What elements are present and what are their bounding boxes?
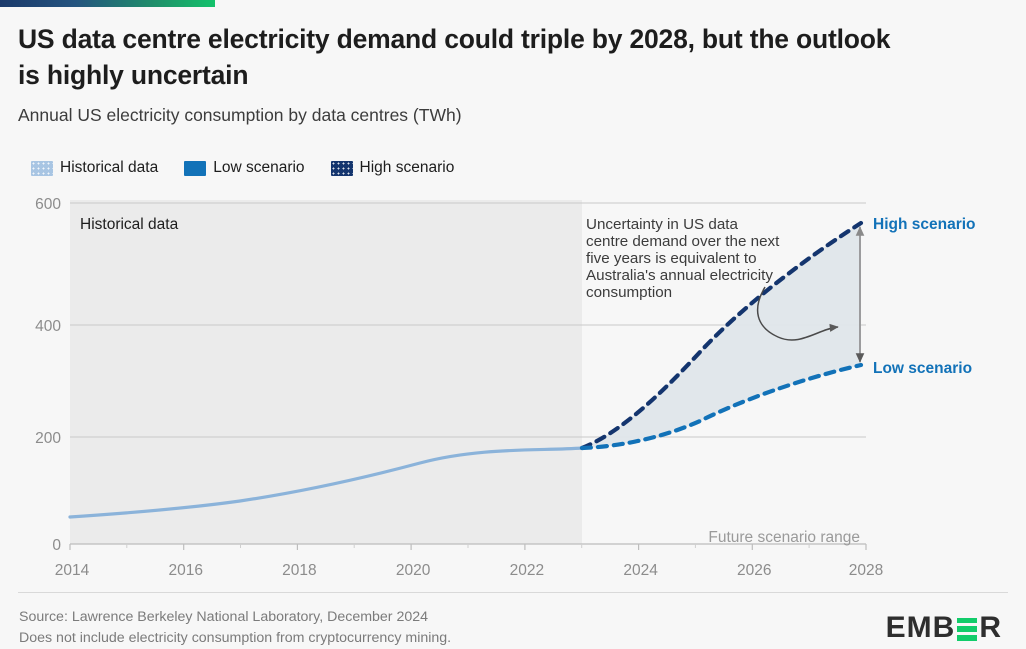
brand-accent-bar [0,0,215,7]
uncertainty-annotation: Uncertainty in US data centre demand ove… [586,216,780,301]
low-scenario-endpoint-label: Low scenario [873,360,972,377]
y-tick-600: 600 [35,196,61,213]
ember-logo: EMB R [886,611,1002,645]
x-tick-2018: 2018 [282,562,316,579]
svg-text:consumption: consumption [586,284,672,301]
historical-region-label: Historical data [80,216,179,233]
y-axis-tick-labels: 600 400 200 0 [35,196,61,554]
x-tick-2028: 2028 [849,562,883,579]
source-note: Source: Lawrence Berkeley National Labor… [19,607,451,648]
svg-text:Uncertainty in US data: Uncertainty in US data [586,216,739,233]
x-tick-2022: 2022 [510,562,544,579]
x-tick-2026: 2026 [737,562,771,579]
x-axis-tick-labels: 2014 2016 2018 2020 2022 2024 2026 2028 [55,562,883,579]
ember-logo-text-left: EMB [886,611,956,645]
ember-logo-text-right: R [979,611,1002,645]
source-line-1: Source: Lawrence Berkeley National Labor… [19,607,451,628]
y-tick-0: 0 [52,537,61,554]
chart-plot-area: 600 400 200 0 2014 2016 2018 2020 2022 2… [0,7,1026,649]
svg-text:centre demand over the next: centre demand over the next [586,233,780,250]
chart-card: US data centre electricity demand could … [0,7,1026,649]
historical-region-shading [70,200,582,544]
ember-logo-e-icon [957,618,977,641]
source-line-2: Does not include electricity consumption… [19,628,451,649]
svg-text:Australia's annual electricity: Australia's annual electricity [586,267,773,284]
y-tick-400: 400 [35,318,61,335]
x-tick-2014: 2014 [55,562,90,579]
footer-divider [18,592,1008,593]
y-tick-200: 200 [35,430,61,447]
x-tick-2024: 2024 [623,562,658,579]
x-tick-2020: 2020 [396,562,431,579]
svg-text:five years is equivalent to: five years is equivalent to [586,250,757,267]
future-region-label: Future scenario range [708,529,860,546]
x-tick-2016: 2016 [168,562,202,579]
high-scenario-endpoint-label: High scenario [873,216,976,233]
